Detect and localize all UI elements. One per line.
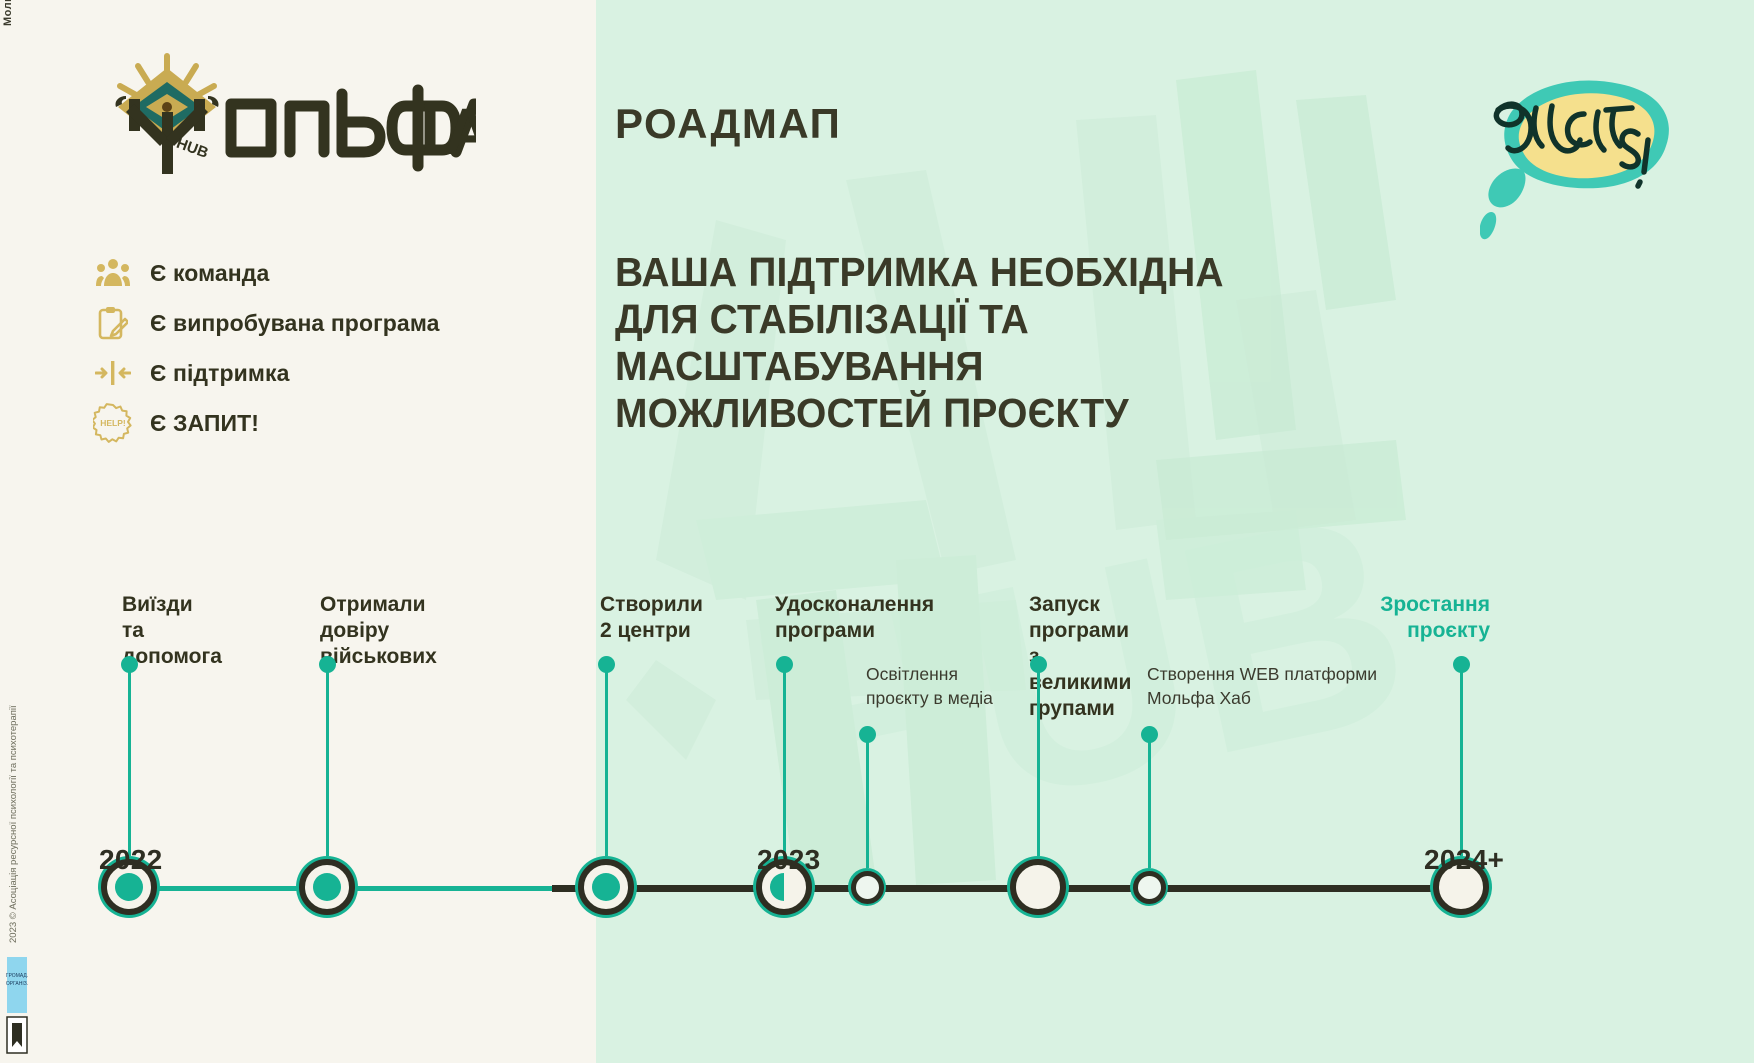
milestone-marker-planned[interactable] [1007, 856, 1069, 918]
svg-text:HUB: HUB [174, 135, 211, 162]
milestone-label: Створили 2 центри [600, 592, 703, 644]
headline-line: МОЖЛИВОСТЕЙ ПРОЄКТУ [615, 390, 1299, 437]
svg-text:А: А [444, 94, 476, 168]
page-kicker: РОАДМАП [615, 100, 841, 148]
milestone-stem [128, 664, 131, 856]
feature-label: Є ЗАПИТ! [150, 410, 259, 437]
milestone-label: Зростання проєкту [1264, 592, 1490, 644]
feature-item-request: HELP! Є ЗАПИТ! [92, 398, 562, 448]
help-badge-icon: HELP! [92, 402, 134, 444]
page-headline: ВАША ПІДТРИМКА НЕОБХІДНА ДЛЯ СТАБІЛІЗАЦІ… [615, 249, 1299, 437]
team-icon [92, 252, 134, 294]
headline-line: ВАША ПІДТРИМКА НЕОБХІДНА [615, 249, 1299, 296]
milestone-stem [605, 664, 608, 856]
support-arrows-icon [92, 352, 134, 394]
feature-item-program: Є випробувана програма [92, 298, 562, 348]
milestone-stem [1037, 664, 1040, 856]
milestone-label: Виїзди та допомога [122, 592, 222, 670]
rail-brand-label: Мольфа [2, 0, 14, 26]
molfa-hub-logo: HUB А [104, 52, 476, 185]
timeline-year-2023: 2023 [757, 844, 821, 876]
milestone-stem [783, 664, 786, 856]
zhyttya-sticker [1480, 62, 1680, 247]
milestone-marker-planned[interactable] [1130, 868, 1168, 906]
milestone-stem [866, 734, 869, 868]
milestone-label: Отримали довіру військових [320, 592, 437, 670]
milestone-stem [1460, 664, 1463, 856]
milestone-marker-done[interactable] [575, 856, 637, 918]
rail-copyright: 2023 © Асоціація ресурсної психології та… [8, 705, 19, 943]
timeline-year-2022: 2022 [99, 844, 163, 876]
svg-text:ГРОМАД.: ГРОМАД. [6, 973, 28, 979]
milestone-stem [1148, 734, 1151, 868]
partner-logo-icon: ГРОМАД. ОРГАНІЗ. [6, 955, 28, 1055]
feature-label: Є випробувана програма [150, 310, 440, 337]
feature-list: Є команда Є випробувана програма Є п [92, 248, 562, 448]
milestone-stem [326, 664, 329, 856]
feature-label: Є підтримка [150, 360, 290, 387]
svg-text:ОРГАНІЗ.: ОРГАНІЗ. [6, 981, 28, 987]
feature-item-team: Є команда [92, 248, 562, 298]
milestone-marker-planned[interactable] [848, 868, 886, 906]
milestone-label: Удосконалення програми [775, 592, 934, 644]
milestone-marker-done[interactable] [296, 856, 358, 918]
headline-line: МАСШТАБУВАННЯ [615, 343, 1299, 390]
clipboard-pencil-icon [92, 302, 134, 344]
milestone-label: Запуск програми з великими групами [1029, 592, 1131, 722]
headline-line: ДЛЯ СТАБІЛІЗАЦІЇ ТА [615, 296, 1299, 343]
help-badge-text: HELP! [100, 418, 126, 428]
roadmap-infographic: HUB Мольфа 2023 © Асоціація ресурсної пс… [0, 0, 1754, 1063]
milestone-sublabel: Створення WEB платформи Мольфа Хаб [1147, 662, 1447, 710]
feature-label: Є команда [150, 260, 269, 287]
feature-item-support: Є підтримка [92, 348, 562, 398]
timeline-year-2024: 2024+ [1424, 844, 1504, 876]
side-rail: Мольфа 2023 © Асоціація ресурсної психол… [0, 0, 34, 1063]
